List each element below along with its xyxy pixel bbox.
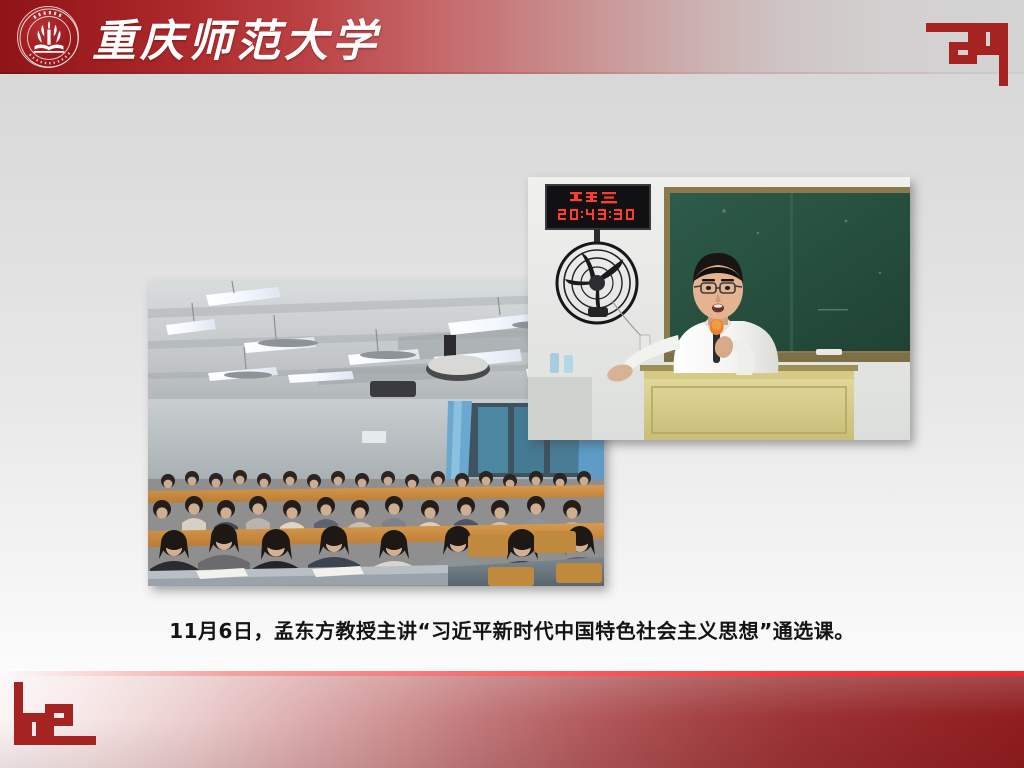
header-divider [0,72,1024,74]
university-emblem-icon [17,6,79,68]
corner-ornament-bottom-left-icon [10,682,110,760]
presentation-slide: 重庆师范大学 [0,0,1024,768]
corner-ornament-top-right-icon [912,8,1012,86]
slide-caption: 11月6日，孟东方教授主讲“习近平新时代中国特色社会主义思想”通选课。 [0,615,1024,644]
lecturer-podium-photo [528,177,910,440]
footer-band [0,676,1024,768]
slide-header-banner: 重庆师范大学 [0,0,1024,74]
university-name-title: 重庆师范大学 [92,4,380,70]
